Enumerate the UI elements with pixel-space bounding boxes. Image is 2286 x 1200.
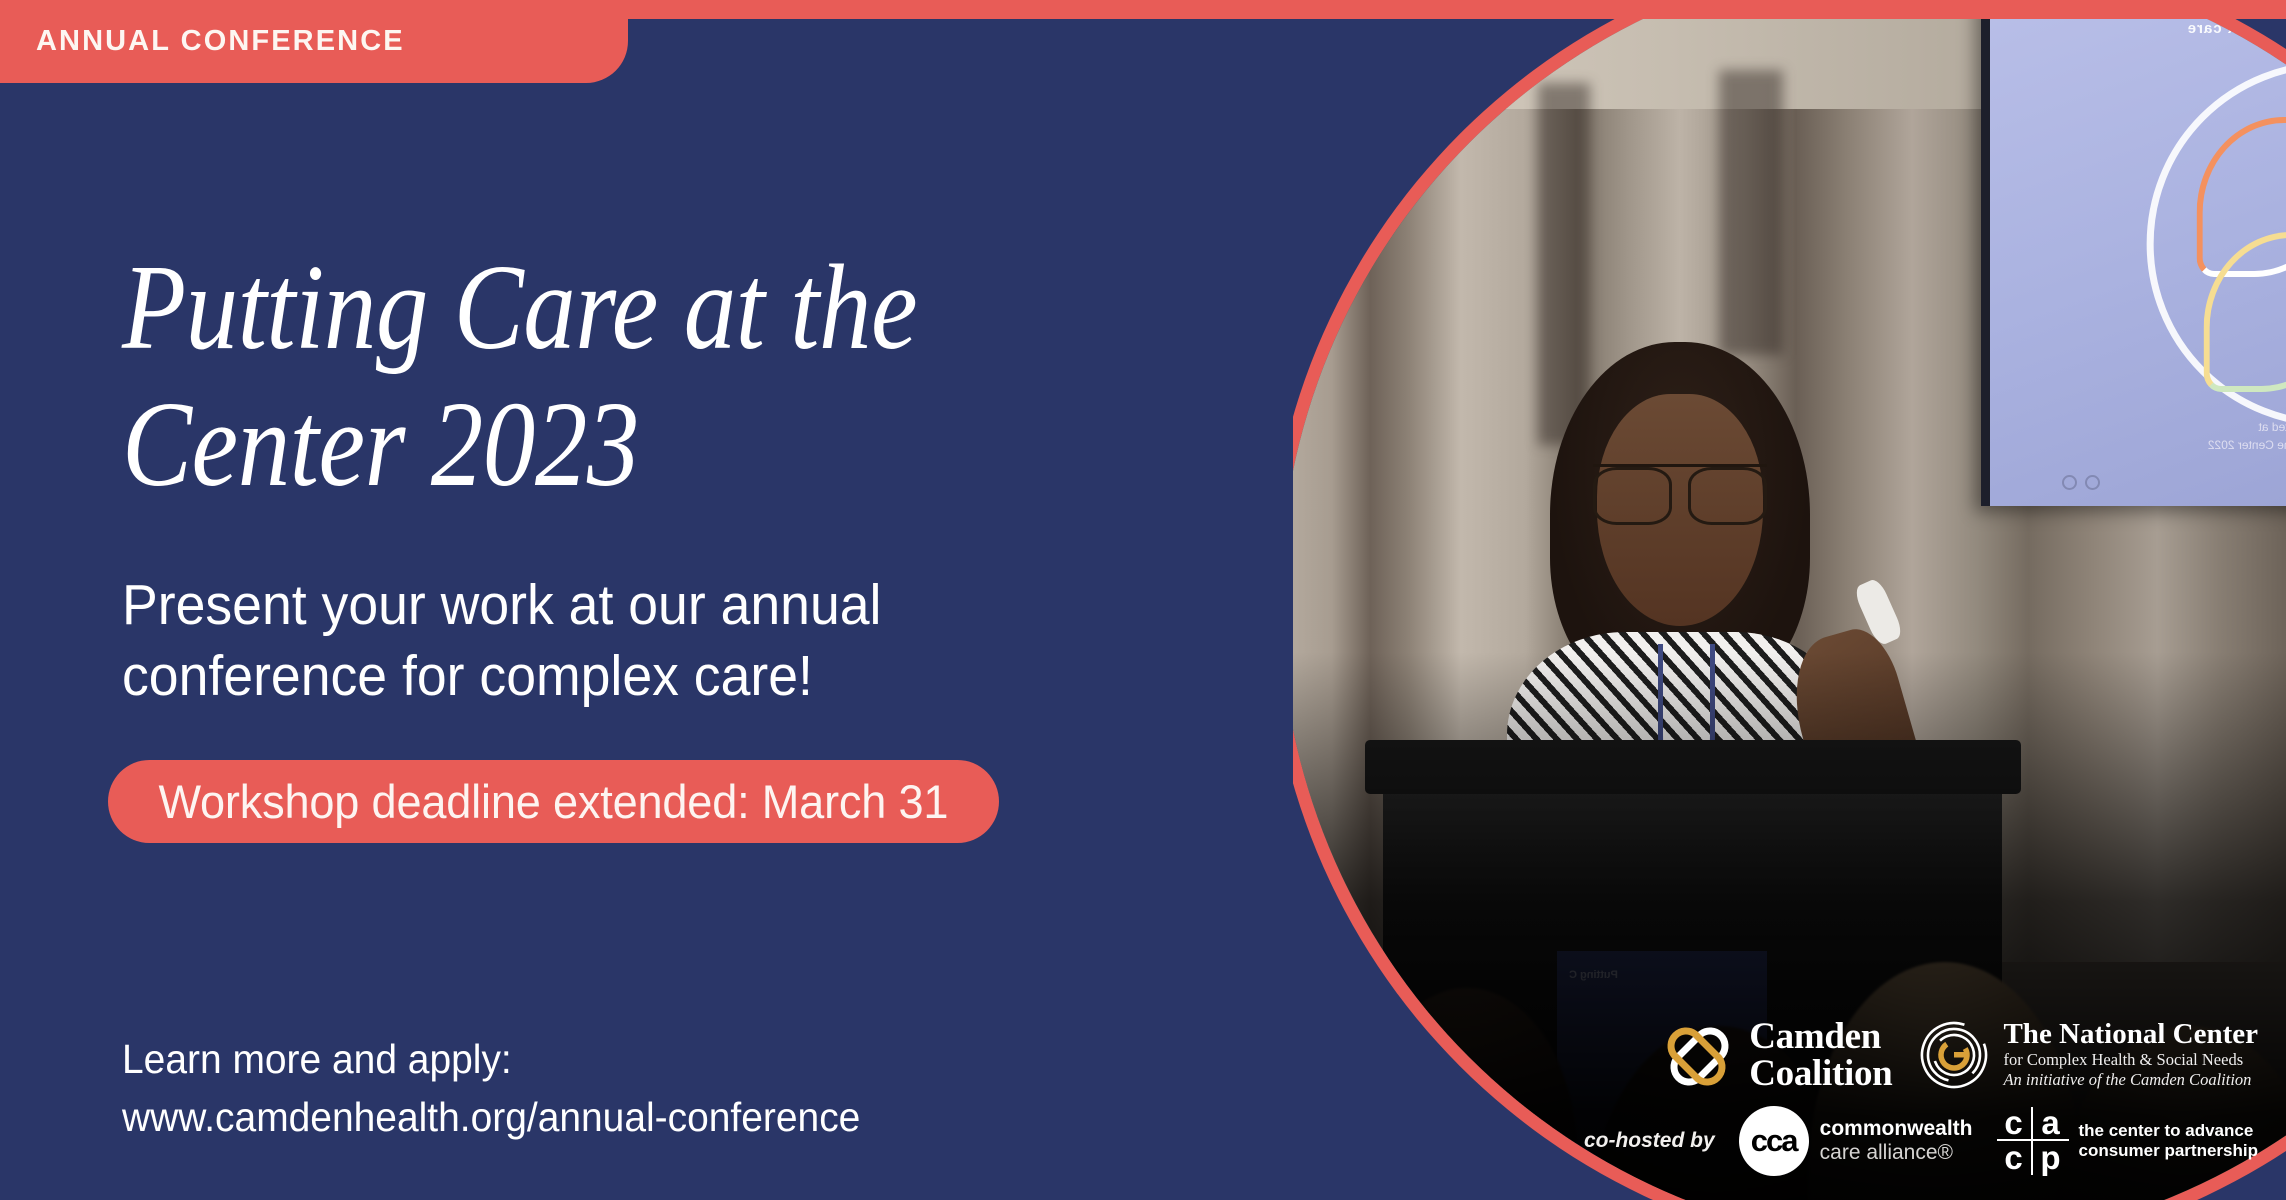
primary-logo-row: Camden Coalition The National Center for… <box>1661 1018 2258 1092</box>
call-to-action: Learn more and apply: www.camdenhealth.o… <box>122 1030 860 1146</box>
national-center-subtitle: for Complex Health & Social Needs <box>2003 1050 2258 1070</box>
cacp-line-1: the center to advance <box>2079 1121 2259 1141</box>
wall-shadow <box>1719 70 1784 354</box>
cta-label: Learn more and apply: <box>122 1030 860 1088</box>
slide-flower-logo <box>2147 61 2286 427</box>
slide-caption-line2: Putting Care at the Center 2022 <box>2050 436 2286 454</box>
cacp-wordmark: the center to advance consumer partnersh… <box>2079 1121 2259 1162</box>
camden-line-1: Camden <box>1749 1018 1892 1055</box>
commonwealth-care-alliance-logo: cca commonwealth care alliance® <box>1739 1106 1973 1176</box>
cta-url[interactable]: www.camdenhealth.org/annual-conference <box>122 1088 860 1146</box>
deadline-badge: Workshop deadline extended: March 31 <box>108 760 999 843</box>
subheading: Present your work at our annual conferen… <box>122 570 1071 713</box>
national-center-concentric-c-icon <box>1918 1019 1990 1091</box>
slide-caption-line1: Presented at <box>2050 418 2286 436</box>
cca-mark-icon: cca <box>1739 1106 1809 1176</box>
subheading-line-1: Present your work at our annual <box>122 570 1071 641</box>
camden-coalition-wordmark: Camden Coalition <box>1749 1018 1892 1092</box>
cacp-letter-p: p <box>2033 1141 2069 1175</box>
national-center-logo: The National Center for Complex Health &… <box>1918 1019 2258 1091</box>
cca-line-2: care alliance® <box>1820 1141 1973 1165</box>
cacp-line-2: consumer partnership <box>2079 1141 2259 1161</box>
camden-coalition-logo: Camden Coalition <box>1661 1018 1892 1092</box>
camden-line-2: Coalition <box>1749 1055 1892 1092</box>
text-content-column: Putting Care at the Center 2023 Present … <box>0 0 1180 1200</box>
slide-icons <box>2062 475 2100 490</box>
logo-lockup: Camden Coalition The National Center for… <box>1584 1018 2258 1176</box>
cohost-logo-row: co-hosted by cca commonwealth care allia… <box>1584 1106 2258 1176</box>
national-center-wordmark: The National Center for Complex Health &… <box>2003 1019 2258 1090</box>
glasses-icon <box>1593 464 1766 519</box>
slide-icon-dot <box>2085 475 2100 490</box>
national-center-initiative: An initiative of the Camden Coalition <box>2003 1070 2258 1090</box>
camden-interlocking-hearts-icon <box>1661 1018 1735 1092</box>
national-center-title: The National Center <box>2003 1019 2258 1049</box>
headline-line-2: Center 2023 <box>122 377 999 514</box>
page-title: Putting Care at the Center 2023 <box>122 240 999 513</box>
cacp-logo: c a c p the center to advance consumer p… <box>1997 1107 2259 1175</box>
conference-promo-banner: and value in complex care Presented at P… <box>0 0 2286 1200</box>
headline-line-1: Putting Care at the <box>122 240 999 377</box>
subheading-line-2: conference for complex care! <box>122 641 1071 712</box>
slide-caption: Presented at Putting Care at the Center … <box>2050 418 2286 454</box>
cacp-letter-c2: c <box>1997 1141 2033 1175</box>
slide-icon-dot <box>2062 475 2077 490</box>
cca-wordmark: commonwealth care alliance® <box>1820 1117 1973 1165</box>
deadline-text: Workshop deadline extended: March 31 <box>158 774 948 829</box>
projector-screen: and value in complex care Presented at P… <box>1981 0 2286 506</box>
cohosted-by-label: co-hosted by <box>1584 1129 1715 1153</box>
cacp-letter-c1: c <box>1997 1107 2033 1141</box>
cca-line-1: commonwealth <box>1820 1117 1973 1141</box>
cacp-letter-a: a <box>2033 1107 2069 1141</box>
slide-arc-text: and value in complex care <box>2038 20 2286 37</box>
cacp-mark-icon: c a c p <box>1997 1107 2069 1175</box>
